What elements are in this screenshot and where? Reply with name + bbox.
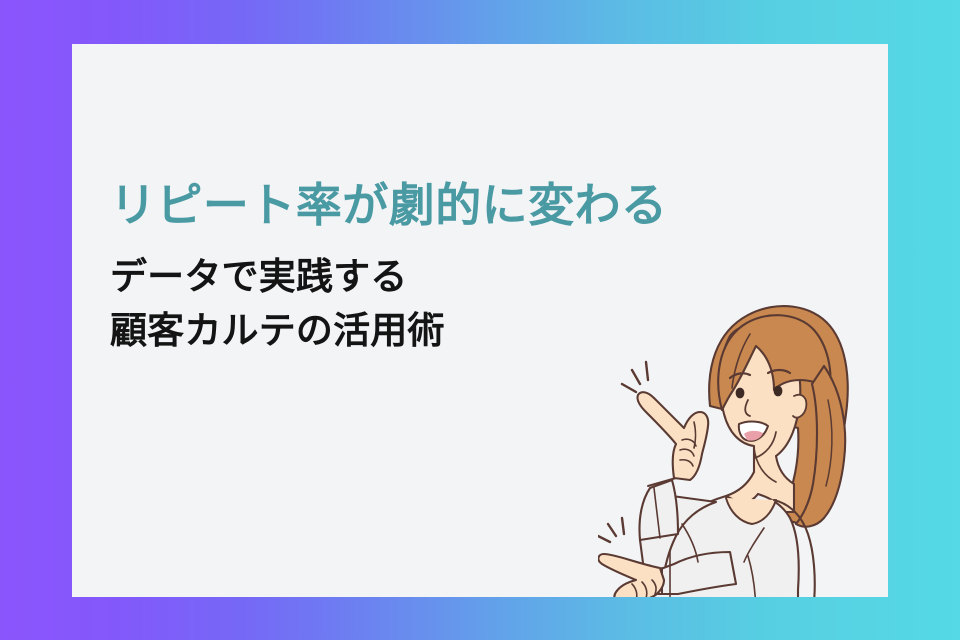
illustration-figure [598,306,848,618]
eye-left [736,388,745,399]
pointing-woman-svg [598,288,898,640]
upper-sparkle [622,362,648,392]
upper-hand [637,392,708,480]
page-title: リピート率が劇的に変わる [110,178,750,232]
eye-right [774,386,783,397]
eyecatch-canvas: リピート率が劇的に変わる データで実践する 顧客カルテの活用術 [0,0,960,640]
lower-sparkle [598,518,624,542]
pointing-woman-illustration [598,288,898,640]
